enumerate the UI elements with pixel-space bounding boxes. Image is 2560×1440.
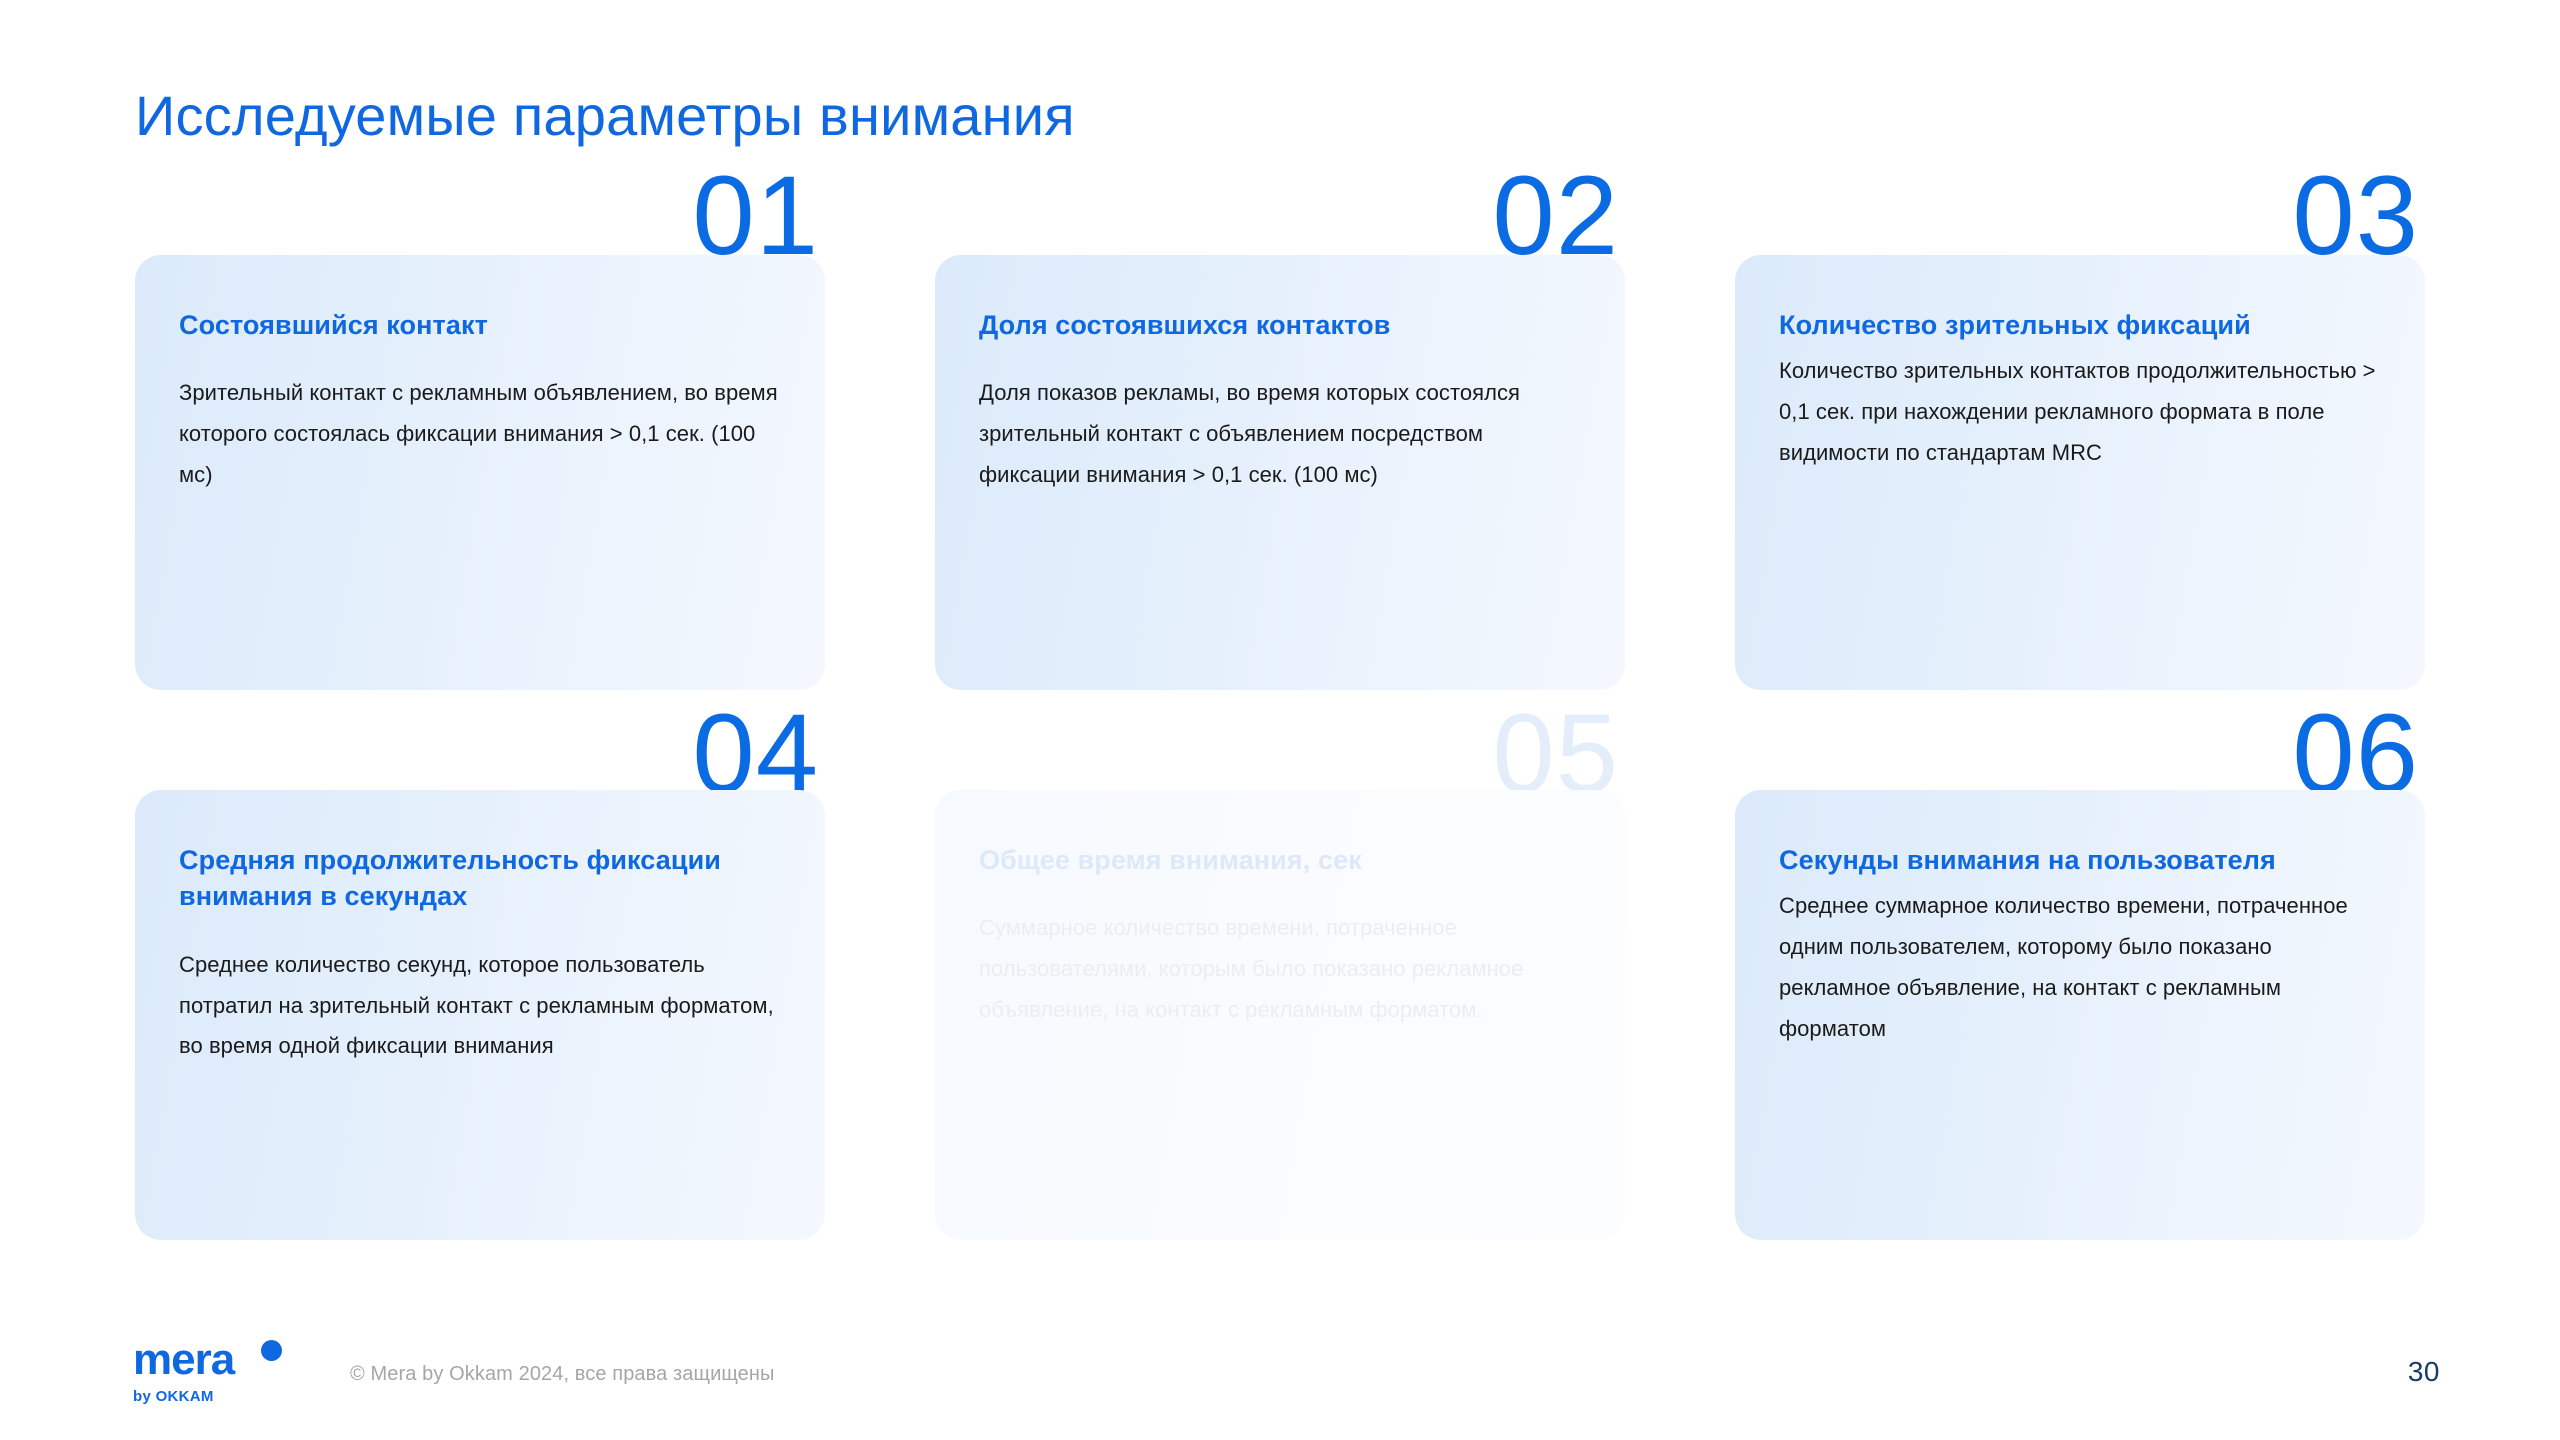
card-03[interactable]: Количество зрительных фиксаций Количеств… xyxy=(1735,255,2425,690)
card-cell-04: 04 Средняя продолжительность фиксации вн… xyxy=(135,790,825,1240)
mera-logo: mera by OKKAM xyxy=(133,1338,303,1418)
card-04[interactable]: Средняя продолжительность фиксации внима… xyxy=(135,790,825,1240)
card-05[interactable]: Общее время внимания, сек Суммарное коли… xyxy=(935,790,1625,1240)
card-01[interactable]: Состоявшийся контакт Зрительный контакт … xyxy=(135,255,825,690)
card-02[interactable]: Доля состоявшихся контактов Доля показов… xyxy=(935,255,1625,690)
logo-subtitle: by OKKAM xyxy=(133,1389,303,1404)
slide-root: Исследуемые параметры внимания 01 Состоя… xyxy=(0,0,2560,1440)
card-title-06: Секунды внимания на пользователя xyxy=(1779,842,2381,878)
cards-grid: 01 Состоявшийся контакт Зрительный конта… xyxy=(135,255,2425,1240)
card-cell-01: 01 Состоявшийся контакт Зрительный конта… xyxy=(135,255,825,690)
card-cell-05: 05 Общее время внимания, сек Суммарное к… xyxy=(935,790,1625,1240)
card-body-06: Среднее суммарное количество времени, по… xyxy=(1779,886,2381,1049)
card-cell-06: 06 Секунды внимания на пользователя Сред… xyxy=(1735,790,2425,1240)
card-body-05: Суммарное количество времени, потраченно… xyxy=(979,908,1581,1030)
page-number: 30 xyxy=(2408,1356,2440,1388)
slide-footer: mera by OKKAM © Mera by Okkam 2024, все … xyxy=(0,1320,2560,1440)
card-body-02: Доля показов рекламы, во время которых с… xyxy=(979,373,1581,495)
logo-dot-icon xyxy=(261,1340,282,1361)
card-title-04: Средняя продолжительность фиксации внима… xyxy=(179,842,781,915)
card-body-01: Зрительный контакт с рекламным объявлени… xyxy=(179,373,781,495)
card-06[interactable]: Секунды внимания на пользователя Среднее… xyxy=(1735,790,2425,1240)
page-title: Исследуемые параметры внимания xyxy=(135,85,1075,147)
card-cell-03: 03 Количество зрительных фиксаций Количе… xyxy=(1735,255,2425,690)
card-title-03: Количество зрительных фиксаций xyxy=(1779,307,2381,343)
card-title-01: Состоявшийся контакт xyxy=(179,307,781,343)
card-title-02: Доля состоявшихся контактов xyxy=(979,307,1581,343)
card-cell-02: 02 Доля состоявшихся контактов Доля пока… xyxy=(935,255,1625,690)
card-body-03: Количество зрительных контактов продолжи… xyxy=(1779,351,2381,473)
card-body-04: Среднее количество секунд, которое польз… xyxy=(179,945,781,1067)
copyright-text: © Mera by Okkam 2024, все права защищены xyxy=(350,1363,775,1386)
card-title-05: Общее время внимания, сек xyxy=(979,842,1581,878)
